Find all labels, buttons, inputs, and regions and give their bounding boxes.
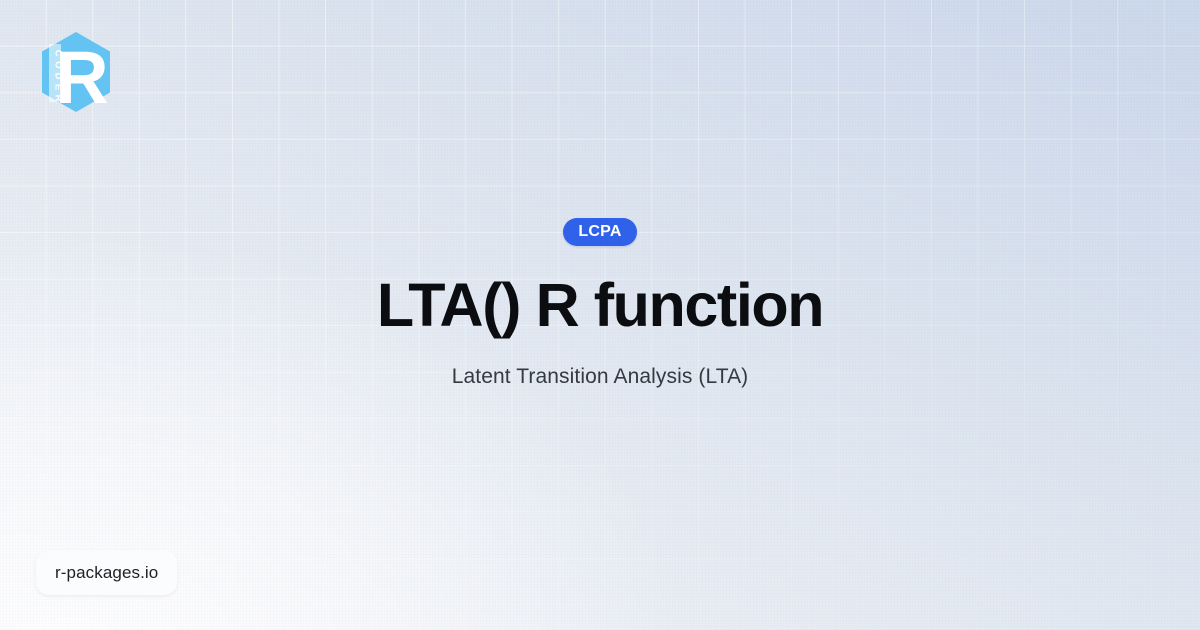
hero-content: LCPA LTA() R function Latent Transition … — [0, 0, 1200, 630]
page-title: LTA() R function — [377, 273, 823, 338]
site-badge[interactable]: r-packages.io — [36, 551, 177, 595]
category-badge[interactable]: LCPA — [563, 218, 636, 246]
page-subtitle: Latent Transition Analysis (LTA) — [452, 363, 749, 390]
og-card: C O D E R R LCPA LTA() R function Latent… — [0, 0, 1200, 630]
